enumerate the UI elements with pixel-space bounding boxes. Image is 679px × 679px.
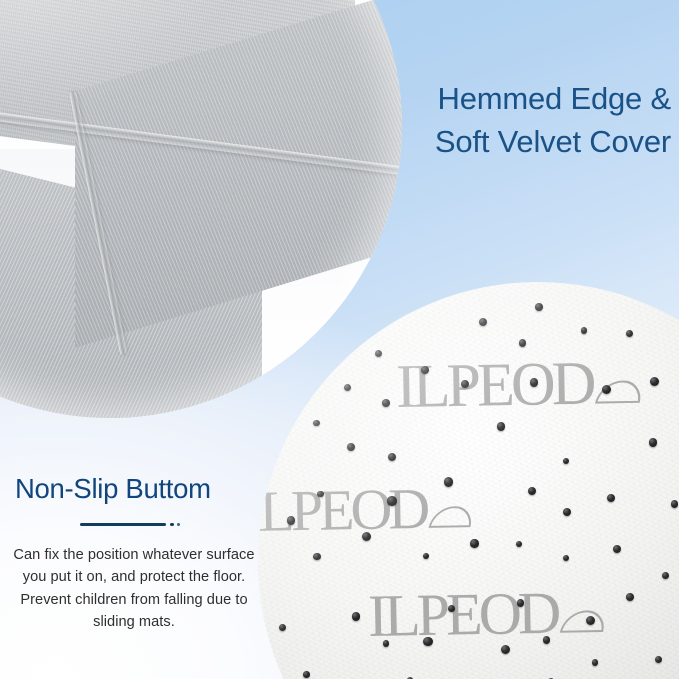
headline-hemmed-edge: Hemmed Edge & Soft Velvet Cover <box>371 78 671 164</box>
headline-line-1: Hemmed Edge & <box>371 78 671 121</box>
divider-dash-1 <box>170 523 174 526</box>
feature-heading: Non-Slip Buttom <box>10 474 258 504</box>
divider-bar <box>80 523 166 526</box>
marketing-image-canvas: ILPEOD⌓ ILPEOD⌓ ILPEOD⌓ Hemmed Edge & So… <box>0 0 679 679</box>
divider-dash-2 <box>177 523 180 526</box>
product-photo-non-slip-bottom: ILPEOD⌓ ILPEOD⌓ ILPEOD⌓ <box>258 282 679 679</box>
feature-copy-block: Non-Slip Buttom Can fix the position wha… <box>10 474 258 633</box>
heading-divider <box>80 520 190 530</box>
headline-line-2: Soft Velvet Cover <box>371 121 671 164</box>
feature-body-text: Can fix the position whatever surface yo… <box>10 544 258 633</box>
